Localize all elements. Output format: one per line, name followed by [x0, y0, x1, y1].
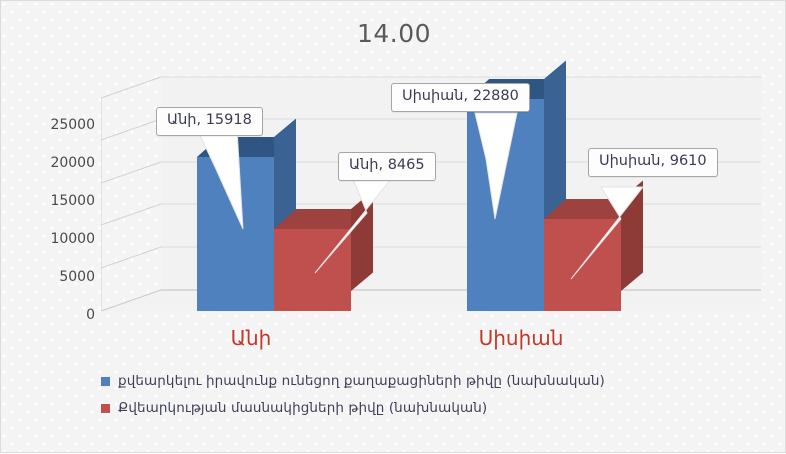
- x-axis-label-sisian: Սիսիան: [421, 326, 621, 350]
- legend-label-participants: Քվեարկության մասնակիցների թիվը (նախնական…: [118, 400, 487, 416]
- bar-front-face: [197, 157, 274, 311]
- legend-item-voters-eligible[interactable]: քվեարկելու իրավունք ունեցող քաղաքացիների…: [101, 373, 741, 389]
- bar-ani-voters-eligible[interactable]: [197, 157, 274, 311]
- bar-front-face: [467, 99, 544, 311]
- data-label-sisian-participants: Սիսիան, 9610: [588, 148, 718, 177]
- bar-sisian-voters-eligible[interactable]: [467, 99, 544, 311]
- legend-swatch-blue-icon: [101, 377, 110, 386]
- y-tick-5000: 5000: [25, 270, 95, 284]
- bar-sisian-participants[interactable]: [544, 219, 621, 311]
- chart-container: 14.00 25000 20000 15000 10000 5000 0: [0, 0, 786, 453]
- y-tick-0: 0: [25, 308, 95, 322]
- data-label-ani-voters-eligible: Անի, 15918: [156, 107, 263, 136]
- y-tick-25000: 25000: [25, 118, 95, 132]
- y-axis: 25000 20000 15000 10000 5000 0: [23, 63, 95, 311]
- legend-label-voters-eligible: քվեարկելու իրավունք ունեցող քաղաքացիների…: [118, 373, 605, 389]
- chart-legend: քվեարկելու իրավունք ունեցող քաղաքացիների…: [101, 373, 741, 427]
- data-label-sisian-voters-eligible: Սիսիան, 22880: [391, 83, 530, 112]
- data-label-ani-participants: Անի, 8465: [338, 152, 436, 181]
- y-tick-10000: 10000: [25, 232, 95, 246]
- bar-ani-participants[interactable]: [274, 229, 351, 311]
- y-tick-15000: 15000: [25, 194, 95, 208]
- bar-front-face: [274, 229, 351, 311]
- x-axis-label-ani: Անի: [151, 326, 351, 350]
- legend-swatch-red-icon: [101, 404, 110, 413]
- bar-side-face: [621, 181, 643, 291]
- y-tick-20000: 20000: [25, 156, 95, 170]
- legend-item-participants[interactable]: Քվեարկության մասնակիցների թիվը (նախնական…: [101, 400, 741, 416]
- bar-front-face: [544, 219, 621, 311]
- chart-title: 14.00: [1, 19, 786, 48]
